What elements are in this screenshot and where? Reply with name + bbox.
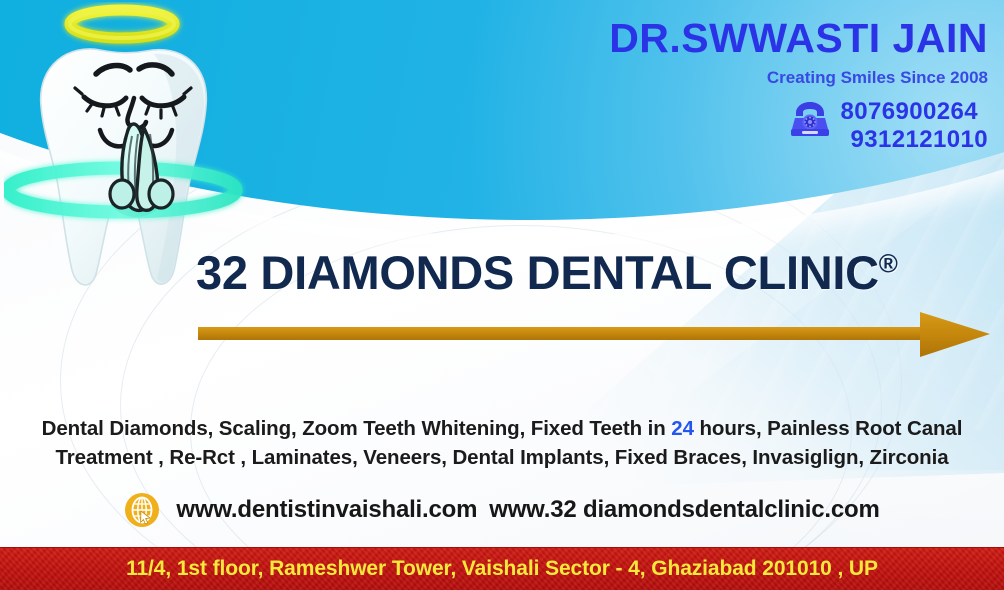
- services-line-1-before: Dental Diamonds, Scaling, Zoom Teeth Whi…: [42, 417, 672, 440]
- services-line-2: Treatment , Re-Rct , Laminates, Veneers,…: [14, 443, 990, 472]
- globe-cursor-icon: [124, 492, 160, 528]
- phone-number-list: 8076900264 9312121010: [841, 98, 988, 155]
- doctor-header: DR.SWWASTI JAIN Creating Smiles Since 20…: [518, 18, 988, 155]
- services-line-1: Dental Diamonds, Scaling, Zoom Teeth Whi…: [14, 414, 990, 443]
- gold-arrow-right-icon: [198, 312, 990, 358]
- telephone-icon: [789, 100, 831, 138]
- phone-number-secondary[interactable]: 9312121010: [841, 126, 988, 154]
- services-highlight-24: 24: [671, 417, 694, 440]
- clinic-tagline: Creating Smiles Since 2008: [518, 69, 988, 86]
- clinic-name-text: 32 DIAMONDS DENTAL CLINIC: [196, 246, 879, 299]
- website-row: www.dentistinvaishali.comwww.32 diamonds…: [0, 492, 1004, 528]
- services-list: Dental Diamonds, Scaling, Zoom Teeth Whi…: [14, 414, 990, 472]
- website-url-2[interactable]: www.32 diamondsdentalclinic.com: [489, 496, 879, 523]
- clinic-address: 11/4, 1st floor, Rameshwer Tower, Vaisha…: [126, 557, 878, 581]
- registered-trademark-icon: ®: [879, 248, 898, 278]
- website-url-1[interactable]: www.dentistinvaishali.com: [176, 496, 477, 523]
- address-bar: 11/4, 1st floor, Rameshwer Tower, Vaisha…: [0, 547, 1004, 590]
- phone-contact-row: 8076900264 9312121010: [518, 98, 988, 155]
- clinic-name: 32 DIAMONDS DENTAL CLINIC®: [196, 248, 996, 298]
- clinic-name-block: 32 DIAMONDS DENTAL CLINIC®: [196, 248, 996, 298]
- doctor-name: DR.SWWASTI JAIN: [518, 18, 988, 59]
- services-line-1-after: hours, Painless Root Canal: [694, 417, 962, 440]
- dental-clinic-banner: DR.SWWASTI JAIN Creating Smiles Since 20…: [0, 0, 1004, 590]
- website-urls: www.dentistinvaishali.comwww.32 diamonds…: [176, 496, 879, 524]
- phone-number-primary[interactable]: 8076900264: [841, 98, 988, 126]
